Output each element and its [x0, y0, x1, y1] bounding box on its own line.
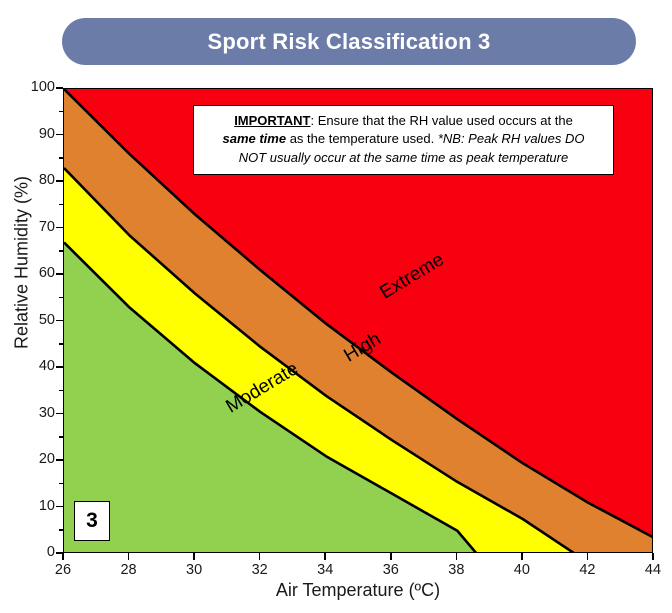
y-tick-mark — [56, 227, 63, 229]
x-tick-label: 28 — [109, 562, 149, 578]
y-tick-mark — [56, 180, 63, 182]
info-line2-italic: *NB: Peak RH values DO — [438, 131, 585, 146]
risk-classification-chart: Relative Humidity (%) Air Temperature (º… — [0, 72, 672, 613]
info-line2-rest: as the temperature used. — [286, 131, 438, 146]
x-tick-mark — [62, 553, 64, 560]
x-tick-label: 30 — [174, 562, 214, 578]
y-tick-label: 50 — [15, 312, 55, 328]
classification-badge: 3 — [74, 501, 110, 541]
y-tick-mark — [56, 506, 63, 508]
info-line2-bold: same time — [222, 131, 286, 146]
y-tick-mark — [56, 459, 63, 461]
x-tick-label: 38 — [436, 562, 476, 578]
y-tick-mark — [56, 413, 63, 415]
plot-area: ModerateHighExtreme IMPORTANT: Ensure th… — [63, 88, 653, 553]
x-tick-label: 26 — [43, 562, 83, 578]
info-lead: IMPORTANT — [234, 113, 310, 128]
x-tick-mark — [128, 553, 130, 560]
y-tick-label: 40 — [15, 358, 55, 374]
x-tick-mark — [324, 553, 326, 560]
x-tick-label: 36 — [371, 562, 411, 578]
y-tick-label: 0 — [15, 544, 55, 560]
x-tick-mark — [587, 553, 589, 560]
page-title: Sport Risk Classification 3 — [208, 29, 491, 55]
info-line3-italic: NOT usually occur at the same time as pe… — [239, 150, 568, 165]
y-tick-label: 100 — [15, 79, 55, 95]
y-tick-mark — [56, 134, 63, 136]
y-tick-label: 80 — [15, 172, 55, 188]
x-tick-mark — [521, 553, 523, 560]
y-tick-mark — [56, 273, 63, 275]
y-tick-mark — [56, 320, 63, 322]
y-tick-mark — [56, 366, 63, 368]
x-tick-label: 32 — [240, 562, 280, 578]
important-note-box: IMPORTANT: Ensure that the RH value used… — [193, 105, 614, 175]
y-tick-label: 90 — [15, 126, 55, 142]
x-tick-label: 40 — [502, 562, 542, 578]
x-tick-label: 44 — [633, 562, 672, 578]
info-line1: : Ensure that the RH value used occurs a… — [311, 113, 573, 128]
y-tick-label: 20 — [15, 451, 55, 467]
x-tick-mark — [193, 553, 195, 560]
title-banner: Sport Risk Classification 3 — [62, 18, 636, 65]
x-tick-mark — [456, 553, 458, 560]
classification-badge-label: 3 — [86, 509, 98, 533]
x-tick-mark — [652, 553, 654, 560]
x-tick-label: 42 — [567, 562, 607, 578]
y-tick-label: 60 — [15, 265, 55, 281]
y-tick-mark — [56, 87, 63, 89]
x-tick-mark — [259, 553, 261, 560]
y-tick-label: 70 — [15, 219, 55, 235]
y-tick-label: 10 — [15, 498, 55, 514]
x-tick-mark — [390, 553, 392, 560]
x-axis-title: Air Temperature (ºC) — [63, 580, 653, 601]
y-tick-label: 30 — [15, 405, 55, 421]
x-tick-label: 34 — [305, 562, 345, 578]
